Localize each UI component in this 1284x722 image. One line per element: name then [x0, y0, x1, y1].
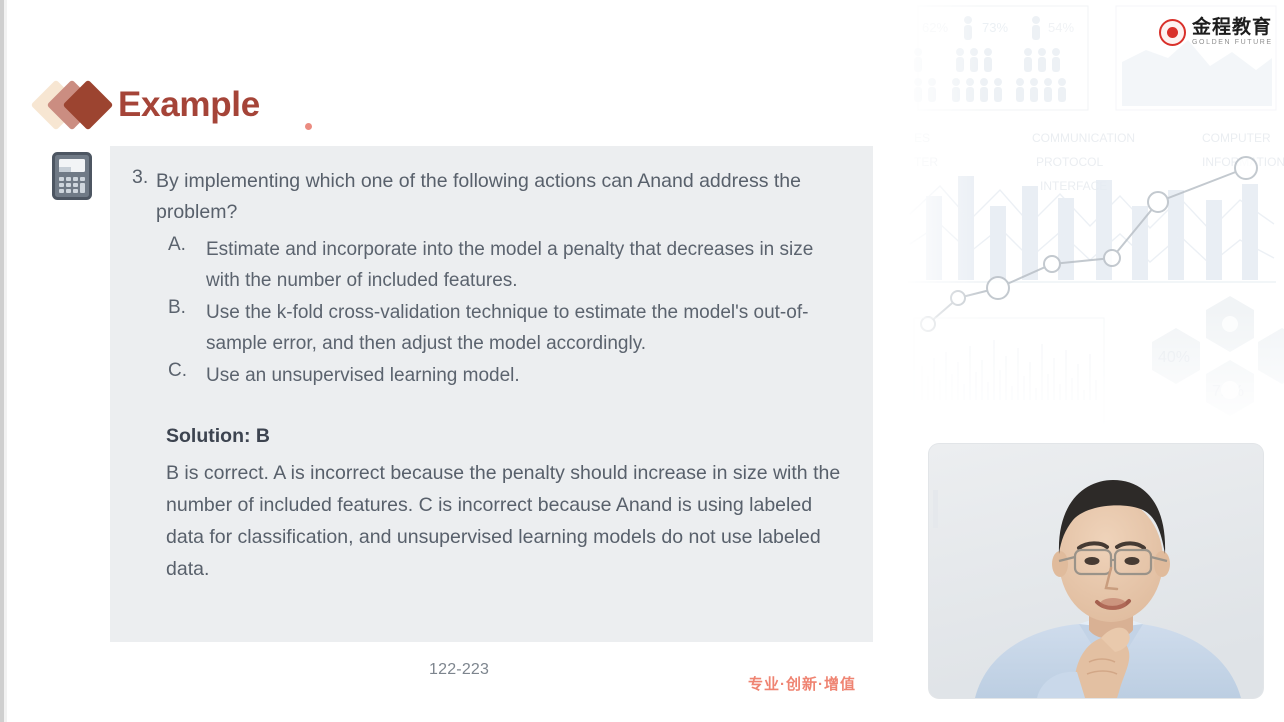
solution-heading: Solution: B	[166, 425, 845, 448]
option-text-c: Use an unsupervised learning model.	[202, 360, 520, 391]
slide-canvas: 62% 73% 54%	[0, 0, 1284, 722]
brand-name-en: GOLDEN FUTURE	[1192, 39, 1273, 46]
brand-logo: 金程教育 GOLDEN FUTURE	[1159, 18, 1273, 46]
brand-text: 金程教育 GOLDEN FUTURE	[1192, 18, 1273, 46]
brand-name-cn: 金程教育	[1192, 18, 1273, 37]
background-infographic: 62% 73% 54%	[900, 0, 1284, 430]
diamond-cluster-icon	[38, 78, 112, 132]
question-row: 3. By implementing which one of the foll…	[122, 166, 845, 228]
question-number: 3.	[122, 166, 156, 189]
option-item-b[interactable]: B. Use the k-fold cross-validation techn…	[122, 297, 845, 359]
solution-explanation: B is correct. A is incorrect because the…	[166, 457, 845, 585]
option-letter-a: A.	[122, 234, 202, 256]
brand-seal-icon	[1159, 19, 1186, 46]
question-panel: 3. By implementing which one of the foll…	[110, 146, 873, 642]
page-number: 122-223	[429, 661, 489, 679]
page-title: Example	[118, 85, 260, 125]
option-letter-b: B.	[122, 297, 202, 319]
brand-slogan: 专业·创新·增值	[748, 673, 856, 694]
option-letter-c: C.	[122, 360, 202, 382]
left-edge-strip-inner	[4, 0, 7, 722]
option-list: A. Estimate and incorporate into the mod…	[122, 234, 845, 391]
title-accent-dot	[305, 123, 312, 130]
question-prompt: By implementing which one of the followi…	[156, 166, 836, 228]
option-item-a[interactable]: A. Estimate and incorporate into the mod…	[122, 234, 845, 296]
option-text-a: Estimate and incorporate into the model …	[202, 234, 845, 296]
option-text-b: Use the k-fold cross-validation techniqu…	[202, 297, 845, 359]
slide-title-row: Example	[38, 78, 260, 132]
presenter-video[interactable]	[929, 444, 1263, 698]
calculator-icon	[52, 152, 92, 200]
option-item-c[interactable]: C. Use an unsupervised learning model.	[122, 360, 845, 391]
